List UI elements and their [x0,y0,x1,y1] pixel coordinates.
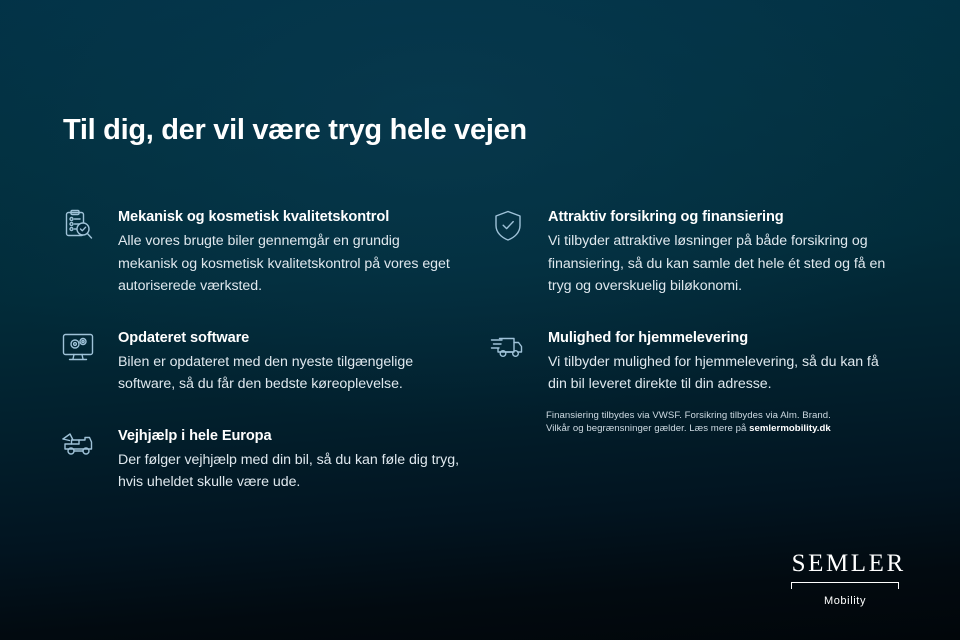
logo-wordmark: SEMLER [789,550,901,577]
feature-column-right: Attraktiv forsikring og finansiering Vi … [490,207,890,422]
feature-body: Alle vores brugte biler gennemgår en gru… [118,230,460,298]
feature-title: Opdateret software [118,328,460,348]
logo-subtitle: Mobility [789,594,901,608]
fineprint-line-1: Finansiering tilbydes via VWSF. Forsikri… [546,409,876,422]
feature-item: Vejhjælp i hele Europa Der følger vejhjæ… [60,426,460,494]
feature-title: Mulighed for hjemmelevering [548,328,890,348]
fineprint-line-2-text: Vilkår og begrænsninger gælder. Læs mere… [546,423,749,434]
feature-column-left: Mekanisk og kosmetisk kvalitetskontrol A… [60,207,460,520]
feature-body: Bilen er opdateret med den nyeste tilgæn… [118,351,460,396]
fineprint-disclaimer: Finansiering tilbydes via VWSF. Forsikri… [546,409,876,435]
slide-canvas: Til dig, der vil være tryg hele vejen Me… [0,0,960,640]
feature-item: Mulighed for hjemmelevering Vi tilbyder … [490,328,890,396]
feature-title: Vejhjælp i hele Europa [118,426,460,446]
fineprint-line-2: Vilkår og begrænsninger gælder. Læs mere… [546,422,876,435]
feature-item: Mekanisk og kosmetisk kvalitetskontrol A… [60,207,460,298]
logo-rule-divider [789,582,901,591]
monitor-gears-icon [60,329,96,365]
feature-body: Vi tilbyder attraktive løsninger på både… [548,230,890,298]
feature-item: Attraktiv forsikring og finansiering Vi … [490,207,890,298]
clipboard-check-magnifier-icon [60,208,96,244]
feature-title: Attraktiv forsikring og finansiering [548,207,890,227]
tow-truck-icon [60,427,96,463]
shield-check-icon [490,208,526,244]
feature-body: Vi tilbyder mulighed for hjemmelevering,… [548,351,890,396]
feature-body: Der følger vejhjælp med din bil, så du k… [118,449,460,494]
semler-mobility-logo: SEMLER Mobility [789,550,901,608]
delivery-truck-icon [490,329,526,365]
page-title: Til dig, der vil være tryg hele vejen [63,113,527,147]
feature-item: Opdateret software Bilen er opdateret me… [60,328,460,396]
semlermobility-link[interactable]: semlermobility.dk [749,423,831,434]
feature-title: Mekanisk og kosmetisk kvalitetskontrol [118,207,460,227]
